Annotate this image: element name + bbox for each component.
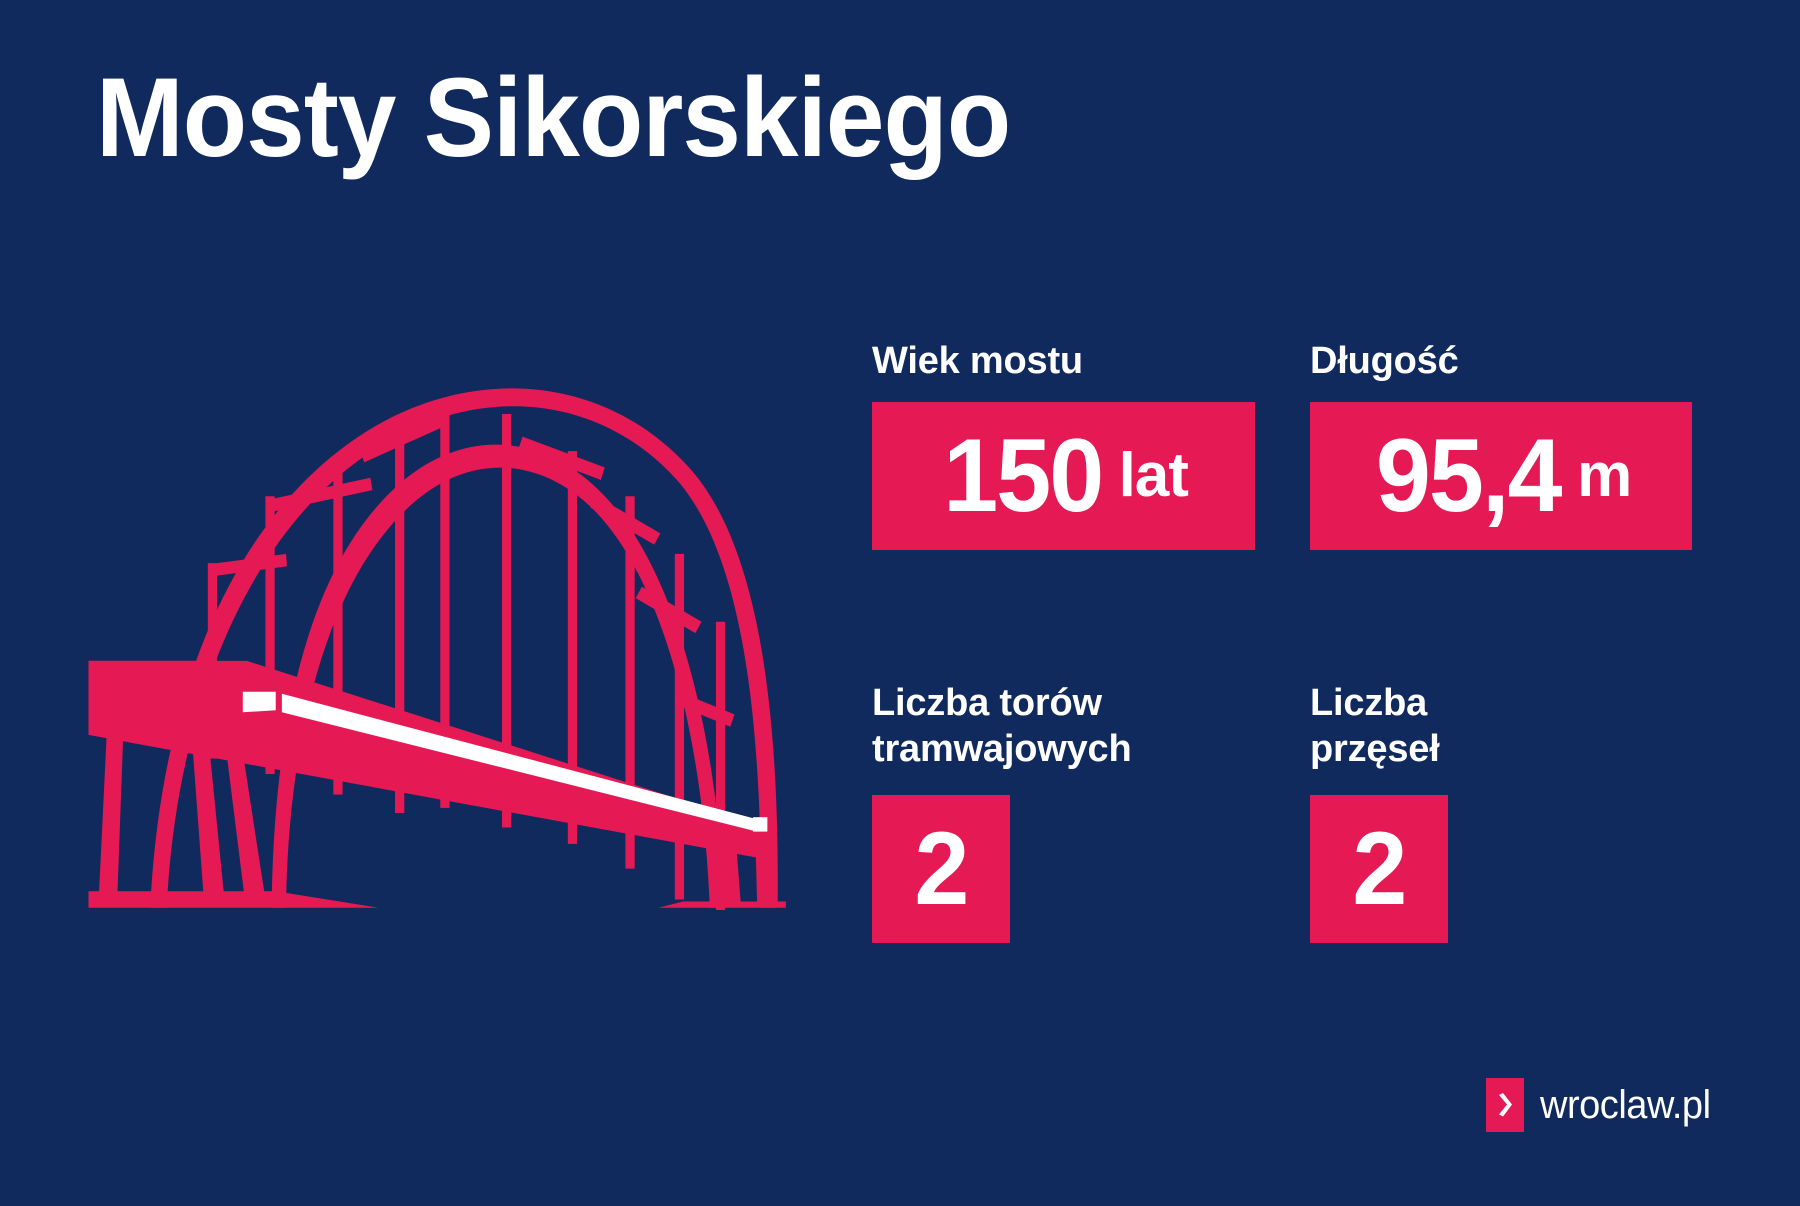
stat-length-value: 95,4 xyxy=(1376,424,1561,528)
stat-spans-value-box: 2 xyxy=(1310,795,1448,943)
logo-mark xyxy=(1486,1078,1524,1132)
stat-tracks-label: Liczba torów tramwajowych xyxy=(872,680,1131,773)
stat-age-value: 150 xyxy=(943,424,1102,528)
stat-length-unit: m xyxy=(1577,445,1631,507)
stat-tracks-value: 2 xyxy=(914,817,967,921)
stat-age-value-box: 150 lat xyxy=(872,402,1255,550)
stat-spans-value: 2 xyxy=(1352,817,1405,921)
stat-age-unit: lat xyxy=(1119,445,1188,507)
stat-length-label: Długość xyxy=(1310,338,1692,384)
bridge-illustration xyxy=(70,350,790,910)
wroclaw-logo[interactable]: wroclaw.pl xyxy=(1486,1078,1720,1132)
stat-tracks-value-box: 2 xyxy=(872,795,1010,943)
stat-length: Długość 95,4 m xyxy=(1310,338,1692,550)
infographic-canvas: Mosty Sikorskiego xyxy=(0,0,1800,1206)
stat-spans-label: Liczba przęseł xyxy=(1310,680,1448,773)
stat-age: Wiek mostu 150 lat xyxy=(872,338,1255,550)
bridge-svg xyxy=(70,350,790,910)
stat-tracks: Liczba torów tramwajowych 2 xyxy=(872,680,1131,943)
stat-length-value-box: 95,4 m xyxy=(1310,402,1692,550)
page-title: Mosty Sikorskiego xyxy=(96,62,1010,174)
logo-text: wroclaw.pl xyxy=(1540,1085,1711,1125)
stat-age-label: Wiek mostu xyxy=(872,338,1255,384)
chevron-right-icon xyxy=(1498,1093,1513,1117)
stat-spans: Liczba przęseł 2 xyxy=(1310,680,1448,943)
